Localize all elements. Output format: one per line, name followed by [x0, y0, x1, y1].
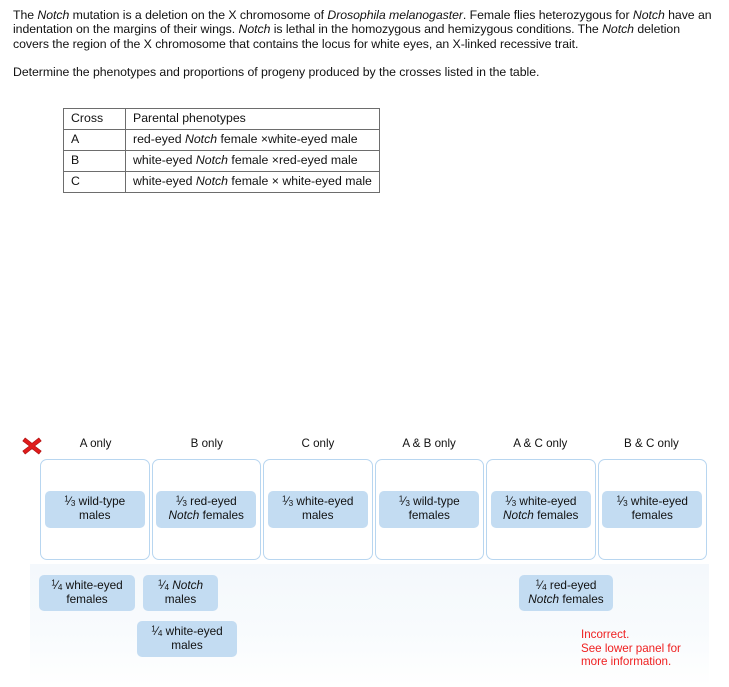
placed-chip-4[interactable]: 1⁄3 wild-typefemales: [379, 491, 479, 527]
prompt-paragraph-2: Determine the phenotypes and proportions…: [13, 65, 713, 79]
answer-area: A onlyB onlyC onlyA & B onlyA & C onlyB …: [0, 215, 729, 472]
chip-line-2: males: [149, 593, 212, 607]
placed-chip-3[interactable]: 1⁄3 white-eyedmales: [268, 491, 368, 527]
table-row: Bwhite-eyed Notch female ×red-eyed male: [64, 151, 380, 172]
chip-line-1: 1⁄3 white-eyed: [497, 495, 585, 509]
chip-line-2: males: [274, 509, 362, 523]
fraction: 1⁄3: [399, 495, 410, 509]
chip-line-1: 1⁄3 white-eyed: [608, 495, 696, 509]
dropzone-1[interactable]: 1⁄3 wild-typemales: [40, 459, 150, 560]
dropzone-row: 1⁄3 wild-typemales1⁄3 red-eyedNotch fema…: [40, 459, 707, 560]
dropzone-5[interactable]: 1⁄3 white-eyedNotch females: [486, 459, 596, 560]
chip-line-2: females: [45, 593, 129, 607]
fraction: 1⁄4: [51, 579, 62, 593]
tray-chip-3[interactable]: 1⁄4 white-eyedmales: [137, 621, 237, 657]
cross-table: Cross Parental phenotypes Ared-eyed Notc…: [63, 108, 380, 193]
table-header-cross: Cross: [64, 109, 126, 130]
chip-line-2: males: [51, 509, 139, 523]
fraction: 1⁄4: [158, 579, 169, 593]
feedback-message: Incorrect.See lower panel formore inform…: [581, 628, 681, 669]
chip-line-1: 1⁄4 white-eyed: [45, 579, 129, 593]
placed-chip-5[interactable]: 1⁄3 white-eyedNotch females: [491, 491, 591, 527]
table-row: Cwhite-eyed Notch female × white-eyed ma…: [64, 172, 380, 193]
table-header-parental-phenotypes: Parental phenotypes: [126, 109, 380, 130]
chip-line-2: females: [385, 509, 473, 523]
dropzone-4[interactable]: 1⁄3 wild-typefemales: [375, 459, 485, 560]
fraction: 1⁄4: [151, 625, 162, 639]
problem-statement: The Notch mutation is a deletion on the …: [13, 8, 713, 80]
cell-parental-phenotype: red-eyed Notch female ×white-eyed male: [126, 130, 380, 151]
column-header-4: A & B only: [374, 437, 485, 450]
cell-cross-id: A: [64, 130, 126, 151]
answer-bank-tray: 1⁄4 white-eyedfemales1⁄4 Notchmales1⁄4 w…: [30, 564, 709, 687]
fraction: 1⁄3: [64, 495, 75, 509]
table-header-row: Cross Parental phenotypes: [64, 109, 380, 130]
chip-line-1: 1⁄4 Notch: [149, 579, 212, 593]
column-header-1: A only: [40, 437, 151, 450]
feedback-line: Incorrect.: [581, 628, 681, 642]
fraction: 1⁄3: [617, 495, 628, 509]
cross-table-body: Ared-eyed Notch female ×white-eyed maleB…: [64, 130, 380, 193]
chip-line-2: Notch females: [162, 509, 250, 523]
chip-line-1: 1⁄4 red-eyed: [525, 579, 607, 593]
column-header-2: B only: [151, 437, 262, 450]
cell-cross-id: C: [64, 172, 126, 193]
dropzone-2[interactable]: 1⁄3 red-eyedNotch females: [152, 459, 262, 560]
chip-line-2: Notch females: [525, 593, 607, 607]
chip-line-1: 1⁄4 white-eyed: [143, 625, 231, 639]
column-header-5: A & C only: [485, 437, 596, 450]
feedback-line: more information.: [581, 655, 681, 669]
cell-parental-phenotype: white-eyed Notch female × white-eyed mal…: [126, 172, 380, 193]
tray-chip-2[interactable]: 1⁄4 Notchmales: [143, 575, 218, 611]
table-row: Ared-eyed Notch female ×white-eyed male: [64, 130, 380, 151]
chip-line-2: Notch females: [497, 509, 585, 523]
feedback-line: See lower panel for: [581, 642, 681, 656]
placed-chip-6[interactable]: 1⁄3 white-eyedfemales: [602, 491, 702, 527]
chip-line-1: 1⁄3 red-eyed: [162, 495, 250, 509]
chip-line-2: males: [143, 639, 231, 653]
placed-chip-2[interactable]: 1⁄3 red-eyedNotch females: [156, 491, 256, 527]
column-header-6: B & C only: [596, 437, 707, 450]
column-headers: A onlyB onlyC onlyA & B onlyA & C onlyB …: [40, 437, 707, 450]
column-header-3: C only: [262, 437, 373, 450]
chip-line-2: females: [608, 509, 696, 523]
cell-cross-id: B: [64, 151, 126, 172]
fraction: 1⁄3: [505, 495, 516, 509]
fraction: 1⁄3: [282, 495, 293, 509]
dropzone-3[interactable]: 1⁄3 white-eyedmales: [263, 459, 373, 560]
fraction: 1⁄3: [176, 495, 187, 509]
cell-parental-phenotype: white-eyed Notch female ×red-eyed male: [126, 151, 380, 172]
chip-line-1: 1⁄3 white-eyed: [274, 495, 362, 509]
tray-chip-1[interactable]: 1⁄4 white-eyedfemales: [39, 575, 135, 611]
prompt-paragraph-1: The Notch mutation is a deletion on the …: [13, 8, 713, 51]
fraction: 1⁄4: [536, 579, 547, 593]
dropzone-6[interactable]: 1⁄3 white-eyedfemales: [598, 459, 708, 560]
tray-chip-4[interactable]: 1⁄4 red-eyedNotch females: [519, 575, 613, 611]
chip-line-1: 1⁄3 wild-type: [385, 495, 473, 509]
chip-line-1: 1⁄3 wild-type: [51, 495, 139, 509]
placed-chip-1[interactable]: 1⁄3 wild-typemales: [45, 491, 145, 527]
